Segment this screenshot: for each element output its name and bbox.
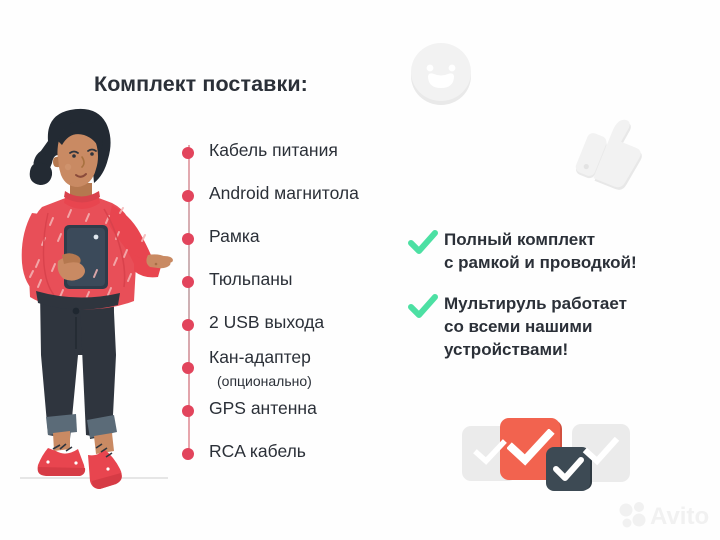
bullet-dot-icon xyxy=(182,448,194,460)
check-icon-red xyxy=(507,429,555,467)
list-item-sublabel: (опционально) xyxy=(217,372,312,390)
bullet-dot-icon xyxy=(182,147,194,159)
list-item: Кабель питания xyxy=(175,138,425,168)
thumbs-up-icon xyxy=(575,113,657,201)
check-icon-gray-left xyxy=(472,439,508,467)
list-item-label: 2 USB выхода xyxy=(209,310,324,334)
list-item: RCA кабель xyxy=(175,439,425,469)
green-check-icon xyxy=(408,230,438,256)
list-item-label: Android магнитола xyxy=(209,181,359,205)
list-item-label: Тюльпаны xyxy=(209,267,292,291)
list-item-label: Рамка xyxy=(209,224,260,248)
checkbox-group-icon xyxy=(462,412,627,490)
list-item-label: Кан-адаптер xyxy=(209,345,311,369)
avito-watermark: Avito xyxy=(618,500,714,530)
bullet-dot-icon xyxy=(182,405,194,417)
check-icon-dark xyxy=(552,456,586,484)
supply-list: Кабель питания Android магнитола Рамка Т… xyxy=(175,130,425,465)
bullet-dot-icon xyxy=(182,233,194,245)
bullet-dot-icon xyxy=(182,276,194,288)
list-item: 2 USB выхода xyxy=(175,310,425,340)
list-item-label: Кабель питания xyxy=(209,138,338,162)
list-item: GPS антенна xyxy=(175,396,425,426)
list-item: Кан-адаптер (опционально) xyxy=(175,353,425,383)
bullet-dot-icon xyxy=(182,362,194,374)
check-icon-gray-right xyxy=(582,437,620,467)
highlight-text: Мультируль работает со всеми нашими устр… xyxy=(444,292,698,361)
page-title: Комплект поставки: xyxy=(94,72,308,97)
list-item: Тюльпаны xyxy=(175,267,425,297)
green-check-icon xyxy=(408,294,438,320)
highlight-item: Мультируль работает со всеми нашими устр… xyxy=(408,292,698,361)
avito-wordmark: Avito xyxy=(650,503,709,530)
list-item: Android магнитола xyxy=(175,181,425,211)
smiley-face-icon xyxy=(407,39,475,107)
list-item-label: GPS антенна xyxy=(209,396,317,420)
product-info-card: Комплект поставки: Кабель питания Androi… xyxy=(0,0,720,540)
bullet-dot-icon xyxy=(182,319,194,331)
highlights-list: Полный комплект с рамкой и проводкой! Му… xyxy=(408,228,698,375)
highlight-item: Полный комплект с рамкой и проводкой! xyxy=(408,228,698,274)
woman-pointing-illustration xyxy=(8,105,173,505)
highlight-text: Полный комплект с рамкой и проводкой! xyxy=(444,228,698,274)
bullet-dot-icon xyxy=(182,190,194,202)
list-item-label: RCA кабель xyxy=(209,439,306,463)
list-item: Рамка xyxy=(175,224,425,254)
